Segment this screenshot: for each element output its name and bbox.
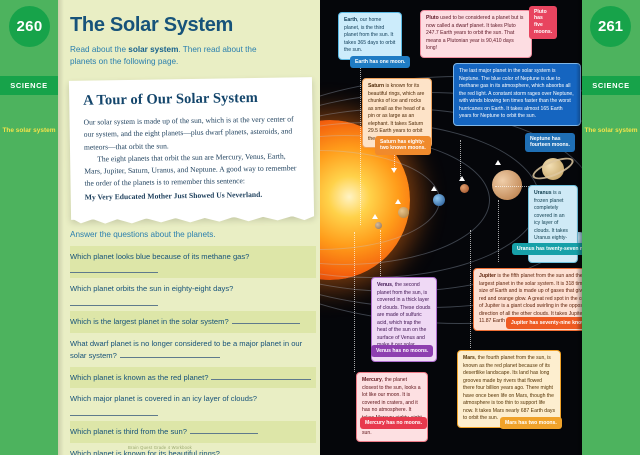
leader-line-jupiter (498, 200, 499, 262)
rail-topic-left: The solar system (0, 126, 58, 135)
page-intro: Read about the solar system. Then read a… (70, 44, 270, 69)
callout-neptune: The last major planet in the solar syste… (453, 63, 581, 126)
left-page-content: The Solar System Read about the solar sy… (70, 0, 314, 455)
right-page: Earth, our home planet, is the third pla… (320, 0, 640, 455)
callout-pluto-lead: Pluto (426, 15, 439, 21)
tag-saturn: Saturn has eighty-two known moons. (375, 136, 431, 155)
leader-arrow-jupiter (495, 160, 501, 165)
answer-blank[interactable] (190, 427, 258, 434)
leader-arrow-saturn (391, 168, 397, 173)
article-paragraph-1: Our solar system is made up of the sun, … (83, 113, 299, 153)
planet-earth (433, 194, 445, 206)
rail-topic-right: The solar system (582, 126, 640, 135)
callout-earth: Earth, our home planet, is the third pla… (338, 12, 402, 60)
leader-line-neptune (460, 140, 461, 180)
article-paragraph-2: The eight planets that orbit the sun are… (84, 150, 300, 190)
article-heading: A Tour of Our Solar System (83, 89, 298, 109)
tag-mars: Mars has two moons. (500, 417, 562, 429)
question-list[interactable]: Which planet looks blue because of its m… (70, 246, 316, 455)
article-mnemonic: My Very Educated Mother Just Showed Us N… (85, 188, 300, 204)
answer-blank[interactable] (211, 373, 311, 380)
leader-line-mercury (354, 232, 355, 372)
question-row[interactable]: Which planet orbits the sun in eighty-ei… (70, 278, 316, 311)
question-text: Which major planet is covered in an icy … (70, 394, 257, 403)
question-row[interactable]: Which planet is known as the red planet? (70, 367, 316, 389)
answer-prompt: Answer the questions about the planets. (70, 230, 314, 239)
answer-blank[interactable] (232, 317, 300, 324)
right-rail-shadow (576, 0, 582, 455)
callout-earth-lead: Earth (344, 17, 357, 23)
callout-pluto: Pluto used to be considered a planet but… (420, 10, 532, 58)
question-row[interactable]: Which is the largest planet in the solar… (70, 311, 316, 333)
callout-mercury: Mercury, the planet closest to the sun, … (356, 372, 428, 442)
leader-line-mars (470, 230, 471, 348)
question-text: Which planet looks blue because of its m… (70, 252, 249, 261)
callout-mercury-lead: Mercury (362, 377, 382, 383)
answer-blank[interactable] (120, 351, 220, 358)
question-row[interactable]: Which major planet is covered in an icy … (70, 388, 316, 421)
workbook-spread: 260 SCIENCE The solar system The Solar S… (0, 0, 640, 455)
page-number-badge-left: 260 (9, 6, 50, 47)
intro-text-bold: solar system (128, 45, 178, 54)
question-row[interactable]: Which planet is third from the sun? (70, 421, 316, 443)
callout-mars-lead: Mars (463, 355, 475, 361)
callout-venus-lead: Venus (377, 282, 392, 288)
question-text: Which is the largest planet in the solar… (70, 317, 229, 326)
leader-line-venus (380, 230, 381, 278)
question-row[interactable]: Which planet looks blue because of its m… (70, 246, 316, 279)
tag-pluto: Pluto has five moons. (529, 6, 557, 39)
callout-saturn-lead: Saturn (368, 83, 384, 89)
page-title: The Solar System (70, 14, 314, 37)
left-side-rail (0, 0, 58, 455)
tag-mercury: Mercury has no moons. (360, 417, 427, 429)
footer-credit: Brain Quest Grade 4 Workbook (0, 445, 320, 450)
callout-saturn-body: is known for its beautiful rings, which … (368, 83, 425, 142)
leader-arrow-venus (395, 199, 401, 204)
callout-jupiter-lead: Jupiter (479, 273, 496, 279)
leader-arrow-earth (431, 186, 437, 191)
planet-jupiter (492, 170, 522, 200)
left-rail-shadow (58, 0, 64, 455)
callout-pluto-body: used to be considered a planet but is no… (426, 15, 523, 51)
planet-mercury (375, 222, 382, 229)
subject-tab-left: SCIENCE (0, 76, 58, 95)
tag-venus: Venus has no moons. (371, 345, 433, 357)
answer-blank[interactable] (70, 264, 158, 273)
leader-arrow-mercury (372, 214, 378, 219)
answer-blank[interactable] (70, 297, 158, 306)
answer-blank[interactable] (70, 407, 158, 416)
right-side-rail (582, 0, 640, 455)
page-number-badge-right: 261 (590, 6, 631, 47)
tag-neptune: Neptune has fourteen moons. (525, 133, 575, 152)
question-text: Which planet orbits the sun in eighty-ei… (70, 284, 233, 293)
planet-mars (460, 184, 469, 193)
left-page: 260 SCIENCE The solar system The Solar S… (0, 0, 320, 455)
intro-text-before: Read about the (70, 45, 128, 54)
planet-venus (398, 207, 409, 218)
tag-earth: Earth has one moon. (350, 56, 410, 68)
leader-arrow-mars (459, 176, 465, 181)
article-card: A Tour of Our Solar System Our solar sys… (69, 77, 314, 220)
callout-uranus-lead: Uranus (534, 190, 552, 196)
question-text: Which planet is known as the red planet? (70, 373, 208, 382)
subject-tab-right: SCIENCE (582, 76, 640, 95)
callout-mars-body: , the fourth planet from the sun, is kno… (463, 355, 555, 421)
question-text: Which planet is third from the sun? (70, 427, 187, 436)
question-row[interactable]: What dwarf planet is no longer considere… (70, 333, 316, 367)
